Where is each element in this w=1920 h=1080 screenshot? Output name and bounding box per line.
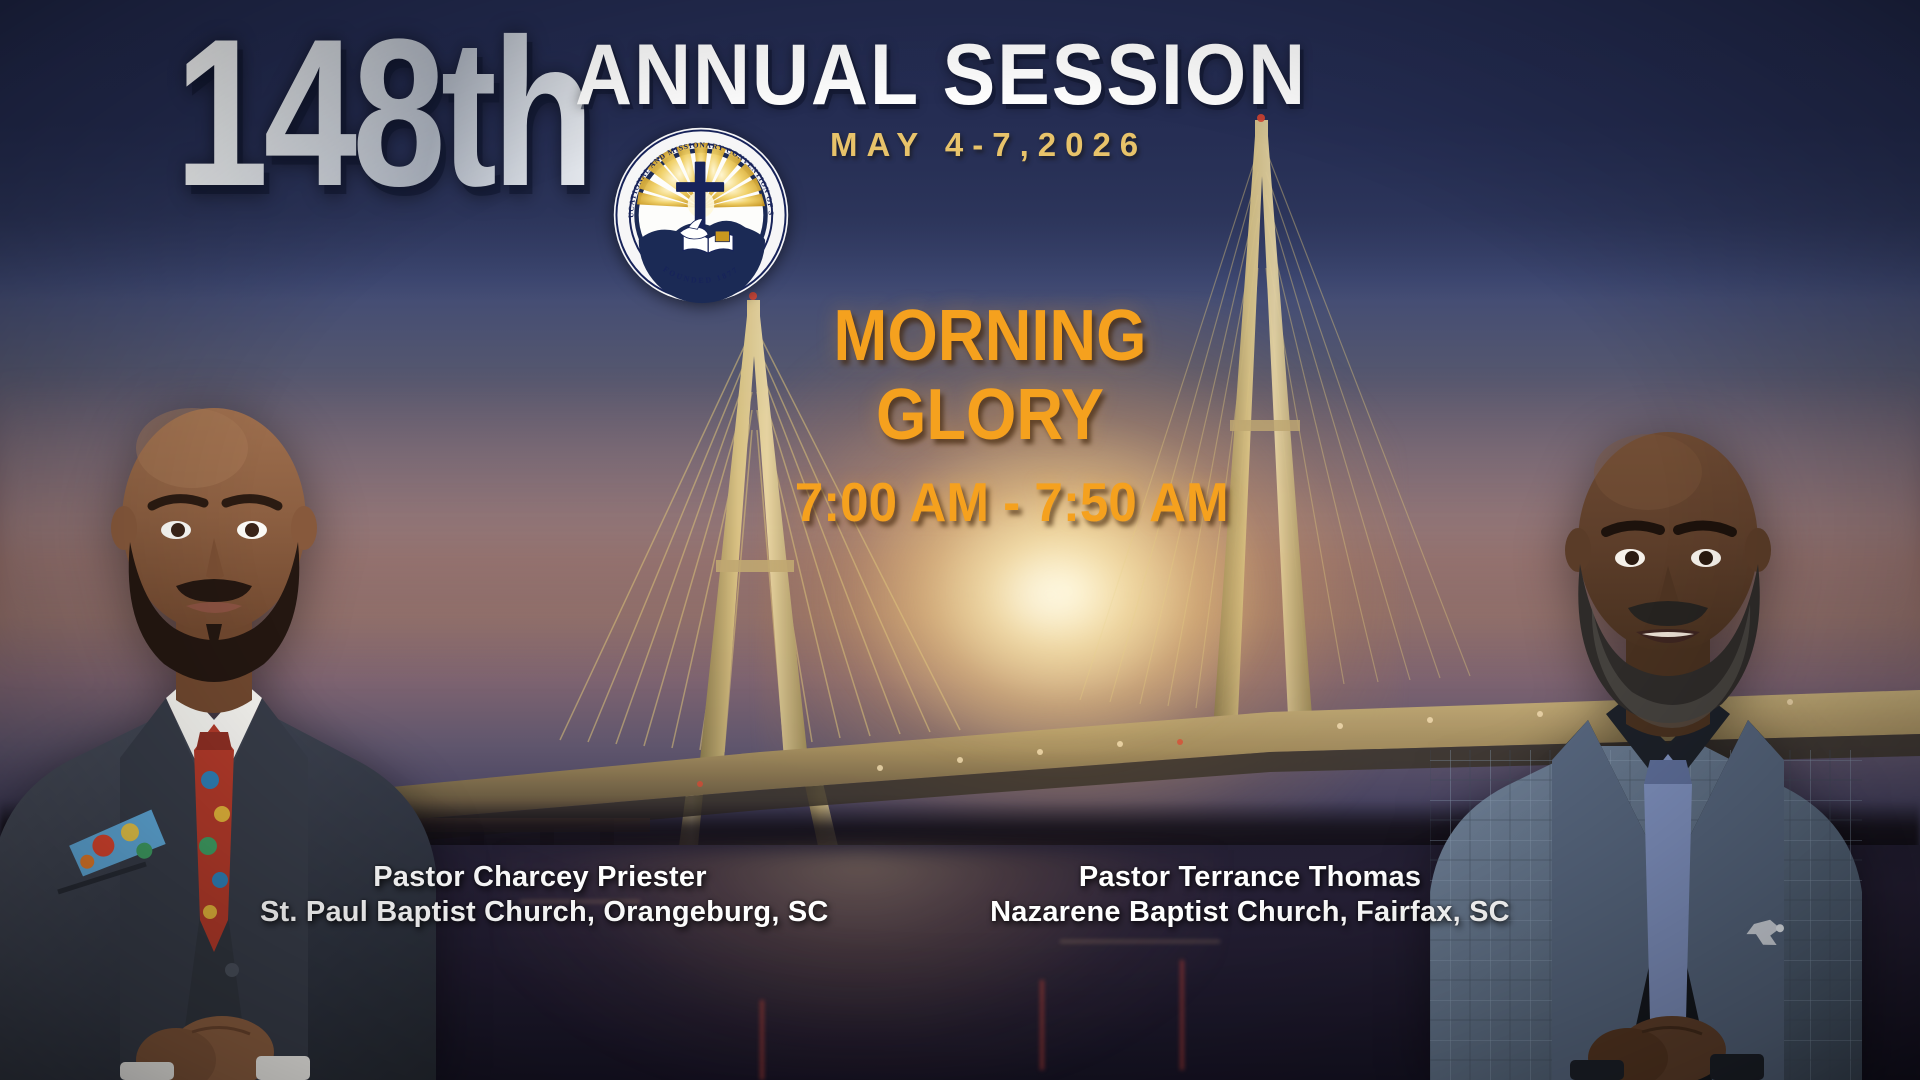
poster-stage: 148th ANNUAL SESSION MAY 4-7,2026 <box>0 0 1920 1080</box>
speaker-caption-left: Pastor Charcey Priester St. Paul Baptist… <box>260 860 820 931</box>
speaker-name: Pastor Terrance Thomas <box>940 860 1560 895</box>
program-block: MORNING GLORY 7:00 AM - 7:50 AM <box>780 300 1200 530</box>
water-streak <box>1060 940 1220 943</box>
program-title-line2: GLORY <box>801 379 1179 452</box>
speaker-name: Pastor Charcey Priester <box>260 860 820 895</box>
water-reflection-red <box>760 1000 764 1080</box>
speaker-photo-left <box>0 280 530 1080</box>
program-time: 7:00 AM - 7:50 AM <box>795 475 1186 530</box>
session-dates: MAY 4-7,2026 <box>830 128 1147 161</box>
program-title-line1: MORNING <box>801 300 1179 373</box>
speaker-church: Nazarene Baptist Church, Fairfax, SC <box>940 895 1560 930</box>
convention-seal-icon: THE BAPTIST EDUCATIONAL AND MISSIONARY C… <box>612 126 790 304</box>
speaker-caption-right: Pastor Terrance Thomas Nazarene Baptist … <box>940 860 1560 931</box>
water-reflection-red <box>1180 960 1184 1070</box>
speaker-photo-right <box>1410 320 1920 1080</box>
session-ordinal: 148th <box>175 8 590 218</box>
water-reflection-red <box>1040 980 1044 1070</box>
speaker-church: St. Paul Baptist Church, Orangeburg, SC <box>260 895 820 930</box>
page-title: ANNUAL SESSION <box>575 32 1307 118</box>
